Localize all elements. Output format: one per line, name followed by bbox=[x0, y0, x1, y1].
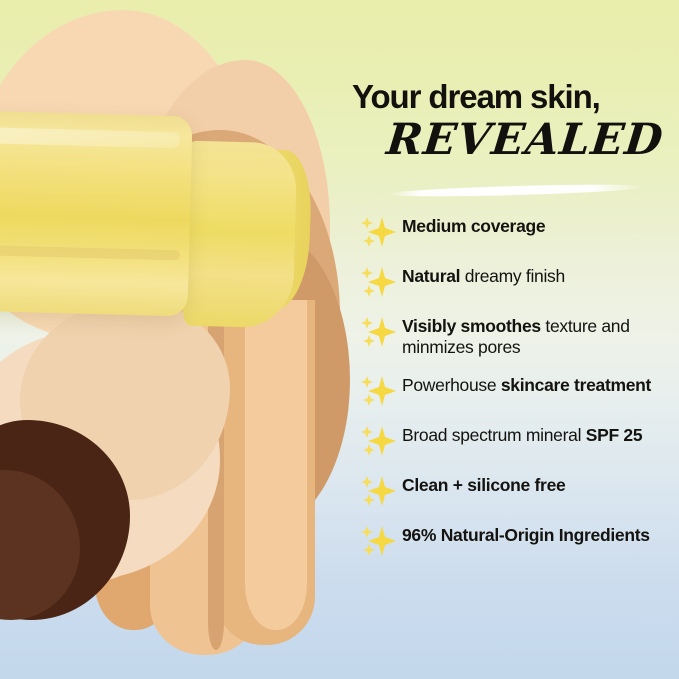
benefit-bold-lead: Natural bbox=[402, 266, 460, 286]
benefit-text: Natural dreamy finish bbox=[402, 263, 565, 287]
sparkle-icon bbox=[358, 424, 402, 458]
benefit-item: Medium coverage bbox=[358, 213, 678, 249]
benefit-bold-tail: SPF 25 bbox=[586, 425, 643, 445]
benefit-bold-lead: Clean + silicone free bbox=[402, 475, 565, 495]
benefit-bold-lead: 96% Natural-Origin Ingredients bbox=[402, 525, 650, 545]
benefits-list: Medium coverage Natural dreamy finish bbox=[358, 213, 678, 572]
benefit-text: Powerhouse skincare treatment bbox=[402, 372, 651, 396]
benefit-item: Visibly smoothes texture and minmizes po… bbox=[358, 313, 678, 358]
sparkle-icon bbox=[358, 474, 402, 508]
sparkle-icon bbox=[358, 524, 402, 558]
benefit-regular: Powerhouse bbox=[402, 375, 501, 395]
headline-primary: Your dream skin, bbox=[352, 80, 672, 113]
brush-underline bbox=[388, 182, 646, 198]
benefit-item: Broad spectrum mineral SPF 25 bbox=[358, 422, 678, 458]
sparkle-icon bbox=[358, 374, 402, 408]
benefit-item: Powerhouse skincare treatment bbox=[358, 372, 678, 408]
benefit-text: Clean + silicone free bbox=[402, 472, 565, 496]
benefit-bold-lead: Medium coverage bbox=[402, 216, 545, 236]
copy-column: Your dream skin, REVEALED Medium coverag… bbox=[350, 0, 679, 679]
headline-block: Your dream skin, REVEALED bbox=[352, 80, 672, 162]
benefit-regular: Broad spectrum mineral bbox=[402, 425, 586, 445]
product-artwork bbox=[0, 0, 360, 679]
foundation-drip-d bbox=[245, 300, 307, 630]
benefit-bold-tail: skincare treatment bbox=[501, 375, 651, 395]
benefit-item: Natural dreamy finish bbox=[358, 263, 678, 299]
headline-script: REVEALED bbox=[350, 119, 675, 162]
benefit-item: Clean + silicone free bbox=[358, 472, 678, 508]
benefit-item: 96% Natural-Origin Ingredients bbox=[358, 522, 678, 558]
benefit-text: Medium coverage bbox=[402, 213, 545, 237]
sparkle-icon bbox=[358, 215, 402, 249]
benefit-regular: dreamy finish bbox=[460, 266, 565, 286]
benefit-text: 96% Natural-Origin Ingredients bbox=[402, 522, 650, 546]
sparkle-icon bbox=[358, 265, 402, 299]
product-feature-graphic: Your dream skin, REVEALED Medium coverag… bbox=[0, 0, 679, 679]
sparkle-icon bbox=[358, 315, 402, 349]
benefit-bold-lead: Visibly smoothes bbox=[402, 316, 541, 336]
benefit-text: Visibly smoothes texture and minmizes po… bbox=[402, 313, 678, 358]
benefit-text: Broad spectrum mineral SPF 25 bbox=[402, 422, 642, 446]
product-tube-cap bbox=[183, 141, 298, 329]
